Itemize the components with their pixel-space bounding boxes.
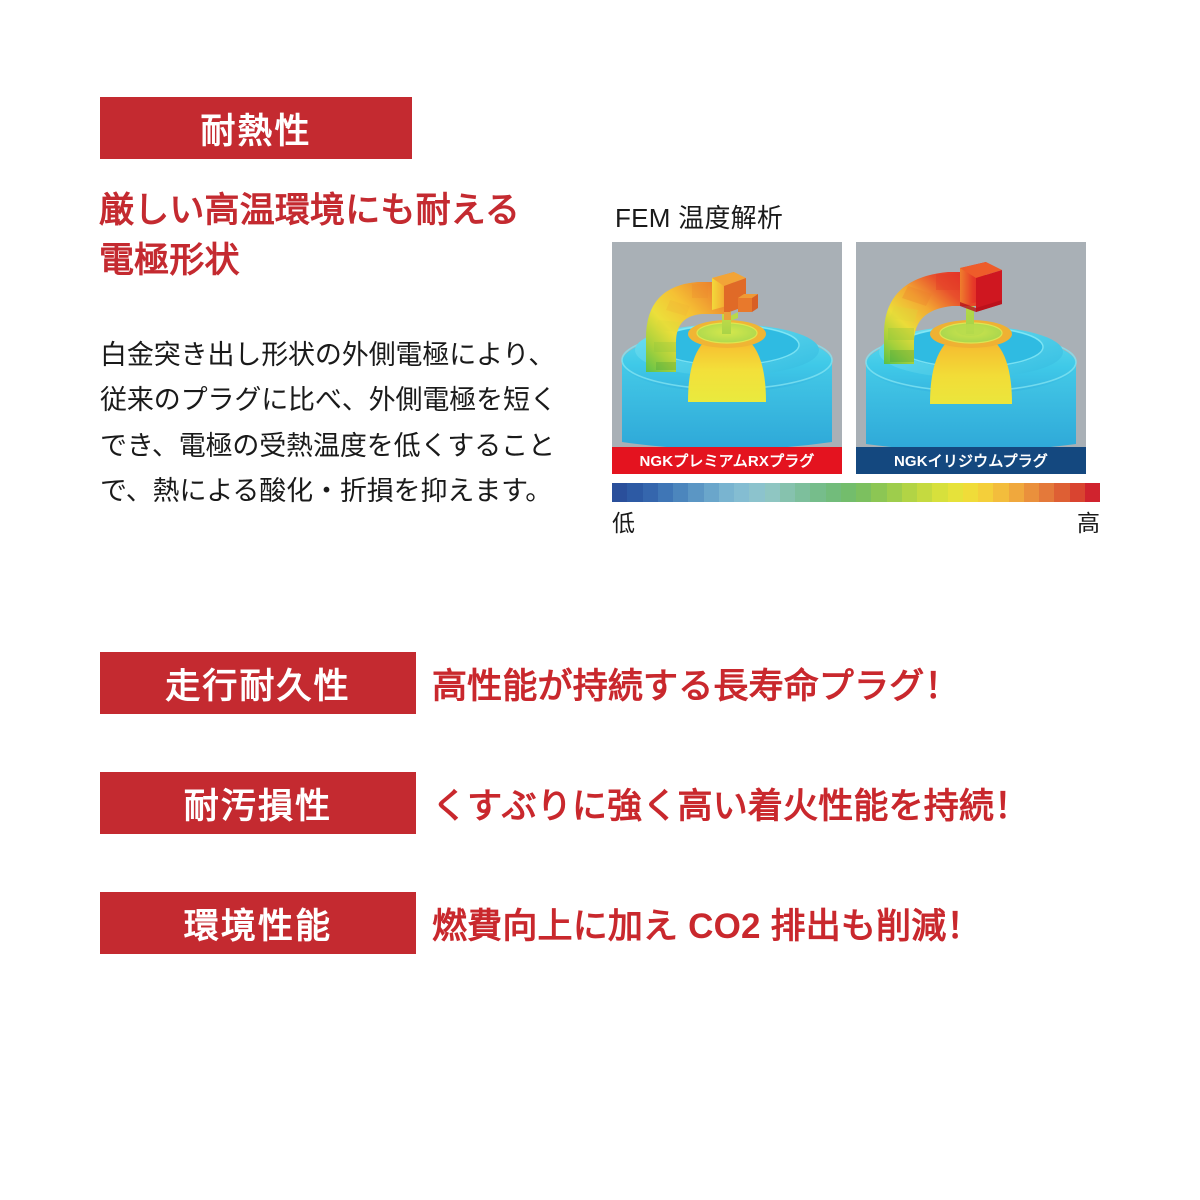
colorbar-band-27 <box>1024 483 1039 502</box>
colorbar-band-25 <box>993 483 1008 502</box>
fem-panel-premium-rx: NGKプレミアムRXプラグ <box>612 242 842 474</box>
heat-headline: 厳しい高温環境にも耐える 電極形状 <box>99 186 599 286</box>
colorbar-band-12 <box>795 483 810 502</box>
heat-body-line-3: でき、電極の受熱温度を低くすること <box>100 424 592 469</box>
colorbar-low-label: 低 <box>612 504 635 538</box>
colorbar-band-0 <box>612 483 627 502</box>
colorbar-band-19 <box>902 483 917 502</box>
feature-description: 高性能が持続する長寿命プラグ！ <box>432 652 960 714</box>
feature-description: くすぶりに強く高い着火性能を持続！ <box>432 772 1029 834</box>
colorbar-band-3 <box>658 483 673 502</box>
fem-thermal-render-premium-rx <box>612 242 842 447</box>
feature-description-label: 燃費向上に加え CO2 排出も削減！ <box>432 898 982 949</box>
fem-panel-label-text: NGKプレミアムRXプラグ <box>639 450 814 471</box>
fem-temperature-colorbar <box>612 483 1100 502</box>
feature-badge-fouling-resistance: 耐汚損性 <box>100 772 416 834</box>
feature-description-label: くすぶりに強く高い着火性能を持続！ <box>432 778 1029 829</box>
section-badge-label: 耐熱性 <box>200 103 311 154</box>
colorbar-band-13 <box>810 483 825 502</box>
colorbar-band-16 <box>856 483 871 502</box>
heat-headline-line-1: 厳しい高温環境にも耐える <box>99 186 599 236</box>
colorbar-band-8 <box>734 483 749 502</box>
fem-panel-label-iridium: NGKイリジウムプラグ <box>856 447 1086 474</box>
colorbar-band-9 <box>749 483 764 502</box>
colorbar-band-15 <box>841 483 856 502</box>
colorbar-band-2 <box>643 483 658 502</box>
colorbar-band-24 <box>978 483 993 502</box>
colorbar-band-29 <box>1054 483 1069 502</box>
heat-body-line-2: 従来のプラグに比べ、外側電極を短く <box>100 378 592 423</box>
colorbar-band-21 <box>932 483 947 502</box>
colorbar-band-23 <box>963 483 978 502</box>
feature-row: 環境性能 燃費向上に加え CO2 排出も削減！ <box>100 892 1020 954</box>
colorbar-band-1 <box>627 483 642 502</box>
feature-description: 燃費向上に加え CO2 排出も削減！ <box>432 892 982 954</box>
feature-row: 走行耐久性 高性能が持続する長寿命プラグ！ <box>100 652 1020 714</box>
feature-description-label: 高性能が持続する長寿命プラグ！ <box>432 658 960 709</box>
colorbar-band-11 <box>780 483 795 502</box>
colorbar-band-14 <box>826 483 841 502</box>
colorbar-high-label: 高 <box>1077 504 1100 538</box>
heat-body-line-1: 白金突き出し形状の外側電極により、 <box>100 333 592 378</box>
feature-badge-label: 耐汚損性 <box>184 778 332 829</box>
fem-figure-caption: FEM 温度解析 <box>615 198 783 235</box>
colorbar-band-31 <box>1085 483 1100 502</box>
colorbar-band-4 <box>673 483 688 502</box>
heat-body-text: 白金突き出し形状の外側電極により、 従来のプラグに比べ、外側電極を短く でき、電… <box>100 333 592 514</box>
feature-badge-label: 走行耐久性 <box>165 658 351 709</box>
colorbar-band-5 <box>688 483 703 502</box>
feature-badge-driving-durability: 走行耐久性 <box>100 652 416 714</box>
colorbar-band-17 <box>871 483 886 502</box>
colorbar-band-20 <box>917 483 932 502</box>
section-badge-heat-resistance: 耐熱性 <box>100 97 412 159</box>
colorbar-band-10 <box>765 483 780 502</box>
fem-analysis-figure: FEM 温度解析 <box>610 198 1100 528</box>
fem-colorbar-scale-labels: 低 高 <box>612 504 1100 538</box>
colorbar-band-30 <box>1070 483 1085 502</box>
feature-row: 耐汚損性 くすぶりに強く高い着火性能を持続！ <box>100 772 1020 834</box>
feature-badge-label: 環境性能 <box>184 898 332 949</box>
colorbar-band-6 <box>704 483 719 502</box>
fem-thermal-render-iridium <box>856 242 1086 447</box>
colorbar-band-28 <box>1039 483 1054 502</box>
fem-panel-label-text: NGKイリジウムプラグ <box>894 450 1048 471</box>
colorbar-band-18 <box>887 483 902 502</box>
fem-panel-label-premium-rx: NGKプレミアムRXプラグ <box>612 447 842 474</box>
colorbar-band-26 <box>1009 483 1024 502</box>
colorbar-band-22 <box>948 483 963 502</box>
heat-body-line-4: で、熱による酸化・折損を抑えます。 <box>100 469 592 514</box>
colorbar-band-7 <box>719 483 734 502</box>
feature-badge-environmental-performance: 環境性能 <box>100 892 416 954</box>
heat-headline-line-2: 電極形状 <box>99 236 599 286</box>
fem-panel-iridium: NGKイリジウムプラグ <box>856 242 1086 474</box>
